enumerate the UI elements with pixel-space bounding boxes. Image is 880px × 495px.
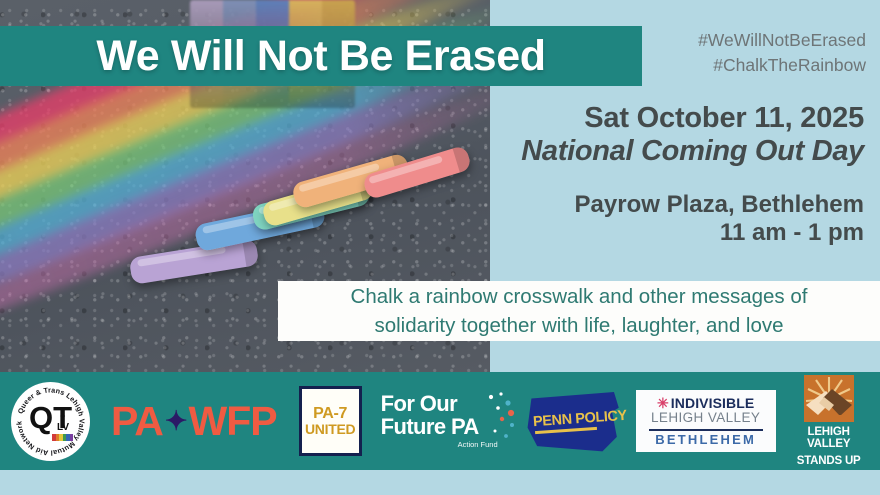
hashtag-chalk-the-rainbow: #ChalkTheRainbow: [636, 53, 866, 78]
event-time: 11 am - 1 pm: [498, 219, 864, 248]
title-banner: We Will Not Be Erased: [0, 26, 642, 86]
foff-dots-icon: [482, 391, 516, 443]
qtlv-rainbow-bar: [52, 434, 73, 441]
page-title: We Will Not Be Erased: [0, 26, 642, 86]
clasped-hands-sunburst-icon: [804, 375, 854, 422]
logo-pa-7-united: PA-7 UNITED: [299, 386, 362, 456]
lvsu-line-2: STANDS UP: [797, 455, 861, 467]
sponsor-footer: Queer & Trans Lehigh Valley Mutual Aid N…: [0, 372, 880, 470]
indivisible-line-3: BETHLEHEM: [655, 433, 756, 446]
logo-lehigh-valley-stands-up: LEHIGH VALLEY STANDS UP: [790, 375, 868, 466]
pa-wfp-prefix: PA: [111, 398, 163, 445]
foff-action-fund: Action Fund: [381, 440, 498, 449]
event-flyer: We Will Not Be Erased #WeWillNotBeErased…: [0, 0, 880, 495]
qtlv-monogram: QT: [11, 402, 90, 433]
logo-for-our-future-pa: For Our Future PA Action Fund: [381, 393, 514, 449]
lvsu-line-1: LEHIGH VALLEY: [790, 426, 868, 450]
event-location: Payrow Plaza, Bethlehem: [498, 191, 864, 220]
pa-wfp-suffix: WFP: [189, 398, 277, 445]
logo-qtlv: Queer & Trans Lehigh Valley Mutual Aid N…: [11, 382, 90, 461]
logo-penn-policy: PENN POLICY: [526, 388, 622, 454]
pa7-line-1: PA-7: [313, 405, 347, 422]
indivisible-line-1: INDIVISIBLE: [671, 396, 755, 410]
pa7-line-2: UNITED: [305, 422, 355, 437]
hashtag-block: #WeWillNotBeErased #ChalkTheRainbow: [636, 28, 866, 78]
hashtag-we-will-not-be-erased: #WeWillNotBeErased: [636, 28, 866, 53]
qtlv-plus-icon: +: [60, 411, 65, 421]
event-details: Sat October 11, 2025 National Coming Out…: [498, 102, 864, 248]
event-date: Sat October 11, 2025: [498, 102, 864, 134]
event-occasion: National Coming Out Day: [498, 134, 864, 168]
logo-indivisible-lehigh-valley: ✳ INDIVISIBLE LEHIGH VALLEY BETHLEHEM: [636, 390, 776, 452]
description-line-2: solidarity together with life, laughter,…: [374, 311, 783, 340]
description-line-1: Chalk a rainbow crosswalk and other mess…: [351, 282, 808, 311]
event-description: Chalk a rainbow crosswalk and other mess…: [278, 281, 880, 341]
qtlv-lv-text: LV: [57, 422, 69, 433]
logo-pa-wfp: PA ✦ WFP: [111, 398, 277, 445]
indivisible-star-icon: ✳: [657, 396, 669, 410]
indivisible-line-2: LEHIGH VALLEY: [651, 410, 760, 427]
sponsor-logo-row: Queer & Trans Lehigh Valley Mutual Aid N…: [0, 372, 880, 470]
indivisible-divider: [649, 429, 763, 430]
star-icon: ✦: [165, 408, 187, 435]
